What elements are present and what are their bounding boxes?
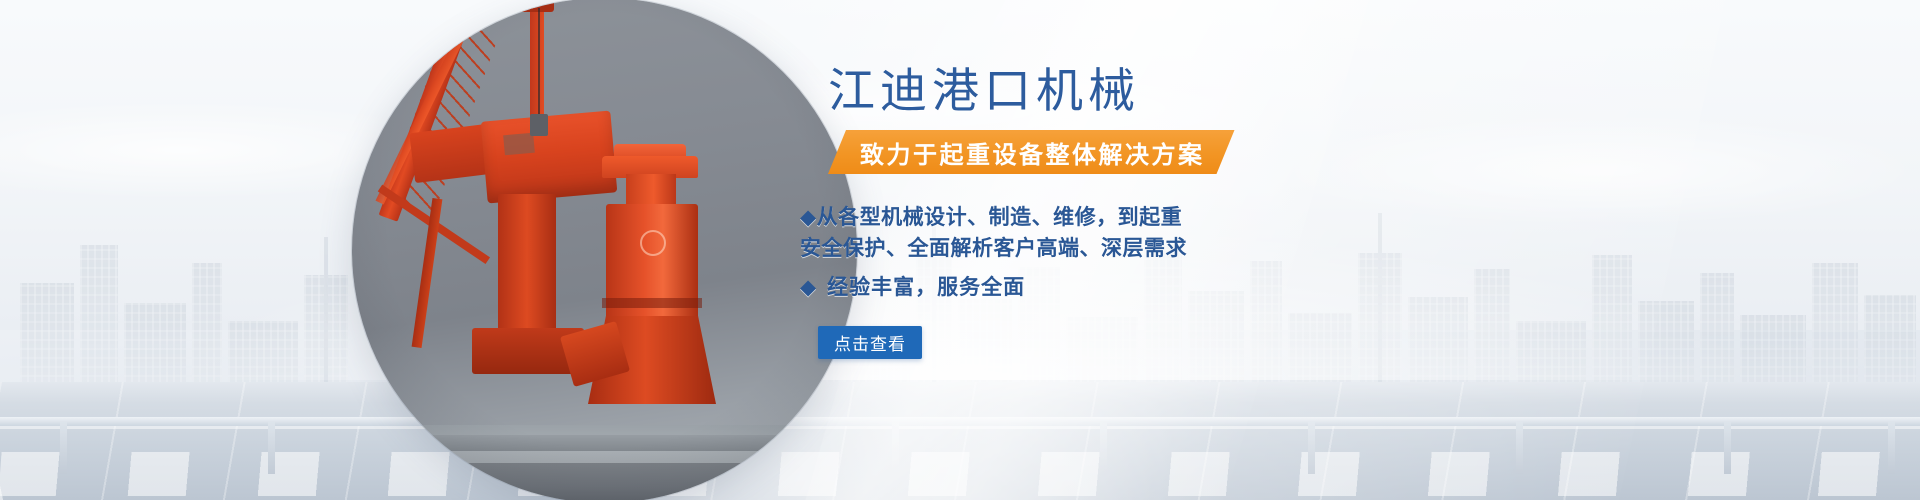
hero-banner: 江迪港口机械 致力于起重设备整体解决方案 ◆从各型机械设计、制造、维修，到起重 … [0,0,1920,500]
diamond-bullet-icon: ◆ [800,276,817,299]
tagline-ribbon: 致力于起重设备整体解决方案 [828,130,1235,174]
cta-button[interactable]: 点击查看 [818,326,922,359]
description-line-1: ◆从各型机械设计、制造、维修，到起重 [800,202,1220,233]
feature-text: 经验丰富，服务全面 [827,276,1025,299]
feature-line: ◆经验丰富，服务全面 [800,272,1025,303]
tagline-text: 致力于起重设备整体解决方案 [860,135,1205,170]
description-line-2: 安全保护、全面解析客户高端、深层需求 [800,233,1220,264]
banner-title: 江迪港口机械 [828,62,1140,120]
port-crane-photo [352,0,857,500]
description-block: ◆从各型机械设计、制造、维修，到起重 安全保护、全面解析客户高端、深层需求 [800,202,1220,264]
